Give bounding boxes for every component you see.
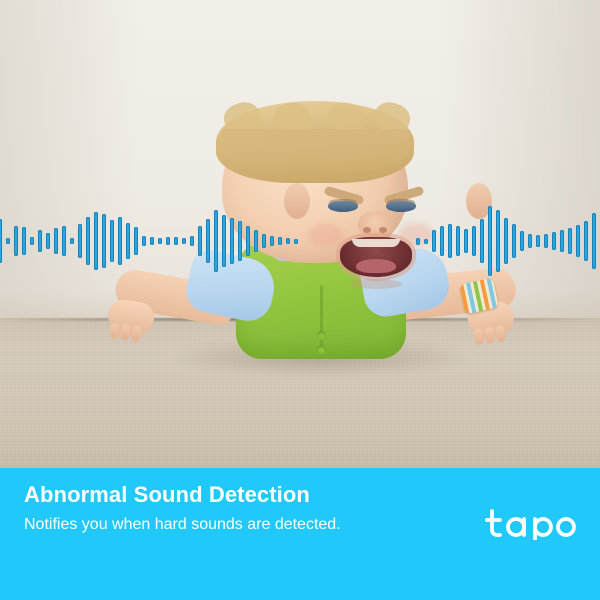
baby-hair xyxy=(216,101,414,183)
waveform-bar xyxy=(94,212,98,270)
waveform-bar xyxy=(6,238,10,244)
waveform-bar xyxy=(480,219,484,263)
waveform-bar xyxy=(544,234,548,248)
romper-snap xyxy=(317,331,326,340)
waveform-bar xyxy=(54,228,58,254)
waveform-bar xyxy=(46,233,50,249)
waveform-bar xyxy=(504,218,508,264)
waveform-bar xyxy=(126,223,130,259)
waveform-bar xyxy=(38,230,42,252)
waveform-bar xyxy=(0,219,2,263)
waveform-bar xyxy=(488,206,492,276)
tapo-feature-card: Abnormal Sound Detection Notifies you wh… xyxy=(0,0,600,600)
waveform-bar xyxy=(560,230,564,252)
waveform-bar xyxy=(512,224,516,258)
waveform-bar xyxy=(496,210,500,272)
baby-right-ear xyxy=(466,183,492,219)
waveform-bar xyxy=(520,231,524,251)
baby-right-eye xyxy=(386,201,416,212)
baby-left-ear xyxy=(284,183,310,219)
waveform-bar xyxy=(86,217,90,265)
waveform-bar xyxy=(134,227,138,255)
waveform-bar xyxy=(110,220,114,262)
waveform-bar xyxy=(30,237,34,245)
baby-left-eye xyxy=(328,201,358,212)
waveform-bar xyxy=(62,226,66,256)
waveform-bar xyxy=(536,235,540,247)
waveform-bar xyxy=(118,217,122,265)
waveform-bar xyxy=(584,221,588,261)
baby-figure xyxy=(150,105,480,380)
waveform-bar xyxy=(528,234,532,248)
waveform-bar xyxy=(576,225,580,257)
waveform-bar xyxy=(70,238,74,244)
waveform-bar xyxy=(102,214,106,268)
waveform-bar xyxy=(568,228,572,254)
waveform-bar xyxy=(142,236,146,246)
baby-teeth xyxy=(352,239,400,247)
baby-left-cheek xyxy=(308,223,344,247)
waveform-bar xyxy=(78,224,82,258)
banner-title: Abnormal Sound Detection xyxy=(24,482,310,508)
tapo-logo xyxy=(485,508,580,548)
romper-snap xyxy=(317,345,326,354)
baby-chin-crease xyxy=(350,279,402,289)
baby-tongue xyxy=(356,259,396,273)
baby-nose xyxy=(358,211,392,237)
waveform-bar xyxy=(14,226,18,256)
waveform-bar xyxy=(22,227,26,255)
waveform-bar xyxy=(592,213,596,269)
baby-crying-mouth xyxy=(340,237,412,277)
waveform-bar xyxy=(552,232,556,250)
product-photo xyxy=(0,0,600,468)
feature-banner: Abnormal Sound Detection Notifies you wh… xyxy=(0,468,600,600)
banner-subtitle: Notifies you when hard sounds are detect… xyxy=(24,516,341,534)
